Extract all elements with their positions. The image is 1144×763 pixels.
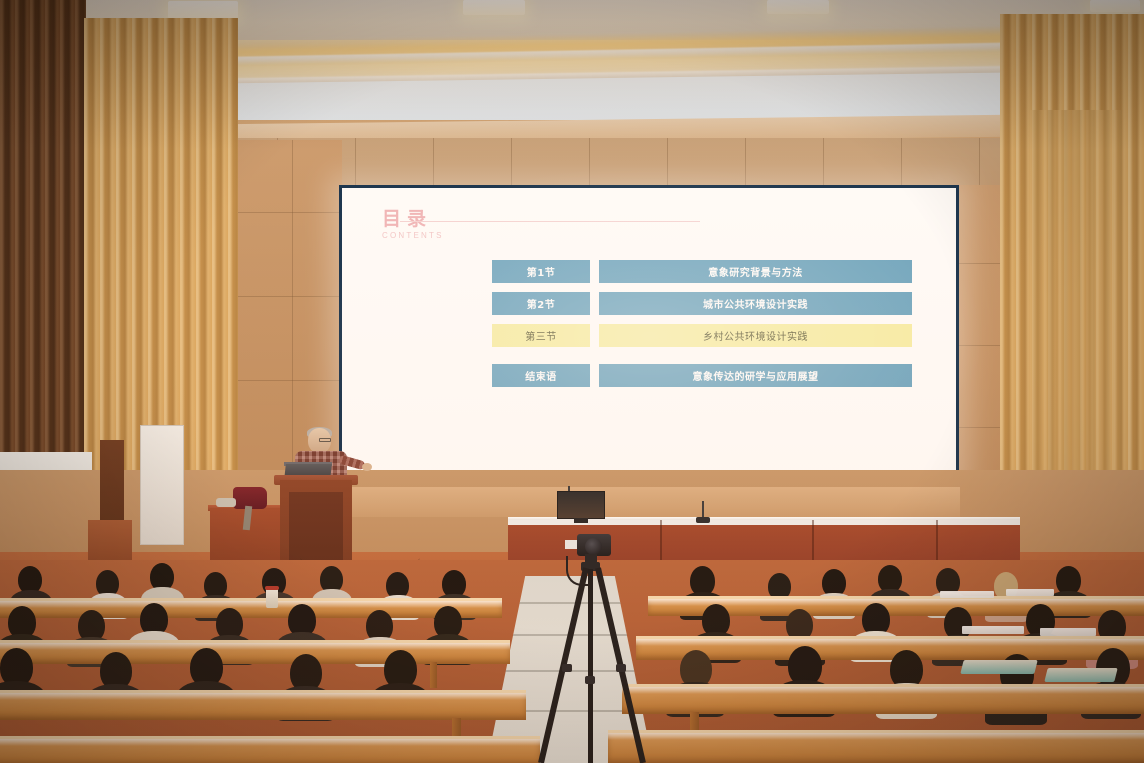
low-wooden-cabinet <box>88 520 132 564</box>
toc-row[interactable]: 第1节 意象研究背景与方法 <box>492 260 912 283</box>
audience-desk-row-front <box>0 736 540 763</box>
left-wall-panels <box>238 140 342 470</box>
audience-desk-row <box>0 598 502 618</box>
desk-top-highlight <box>0 601 502 608</box>
presenter-hand <box>362 463 372 471</box>
curtain-left-dark <box>0 0 86 520</box>
audience-desk-row-front <box>608 730 1144 763</box>
toc-row-title: 意象传达的研学与应用展望 <box>599 364 912 387</box>
ceiling-panel-light <box>1090 0 1140 12</box>
slide-title-chinese: 目录 <box>382 210 444 229</box>
cup-on-desk <box>266 588 278 608</box>
ceiling-panel-light <box>168 1 238 19</box>
toc-row-title: 城市公共环境设计实践 <box>599 292 912 315</box>
slide-title-english: CONTENTS <box>382 231 444 240</box>
stage-wainscot-band <box>340 487 960 517</box>
fire-extinguisher-cabinet <box>100 440 124 530</box>
toc-row-title: 乡村公共环境设计实践 <box>599 324 912 347</box>
tripod-center-column <box>588 569 593 763</box>
desk-monitor <box>557 491 605 519</box>
projection-screen[interactable]: 目录 CONTENTS 第1节 意象研究背景与方法 第2节 城市公共环境设计实践… <box>339 185 959 485</box>
tripod-leg-lock <box>562 664 572 672</box>
monitor-stand <box>574 518 588 523</box>
lecture-hall-photo: 目录 CONTENTS 第1节 意象研究背景与方法 第2节 城市公共环境设计实践… <box>0 0 1144 763</box>
paper-on-desk <box>940 591 994 598</box>
slide-title-group: 目录 CONTENTS <box>382 210 444 240</box>
toc-row[interactable]: 第2节 城市公共环境设计实践 <box>492 292 912 315</box>
slide-surface: 目录 CONTENTS 第1节 意象研究背景与方法 第2节 城市公共环境设计实践… <box>342 188 956 482</box>
paper-on-desk <box>1040 628 1096 636</box>
toc-row-title: 意象研究背景与方法 <box>599 260 912 283</box>
ceiling-panel-light <box>767 0 829 14</box>
presenter-glasses <box>319 438 331 442</box>
toc-row-number: 第2节 <box>492 292 590 315</box>
desk-top-highlight <box>0 693 526 700</box>
ceiling-panel-light <box>463 0 525 15</box>
microphone-base <box>696 517 710 523</box>
tripod-leg-lock <box>616 664 626 672</box>
notebook-stack <box>1044 668 1117 682</box>
paper-on-desk <box>1006 589 1054 596</box>
audience-desk-row <box>622 684 1144 714</box>
desk-top-highlight <box>608 733 1144 740</box>
desk-leg <box>430 662 437 688</box>
toc-row[interactable]: 结束语 意象传达的研学与应用展望 <box>492 364 912 387</box>
audience-desk-row <box>0 690 526 720</box>
cup-lid <box>265 586 279 590</box>
desk-top-highlight <box>0 643 510 650</box>
toc-row-number: 结束语 <box>492 364 590 387</box>
audience-desk-row <box>0 640 510 664</box>
toc-row-number: 第1节 <box>492 260 590 283</box>
desk-top-highlight <box>0 739 540 746</box>
wall-panel-seam <box>292 140 293 470</box>
wall-panel-seam <box>238 296 342 297</box>
toc-row-number: 第三节 <box>492 324 590 347</box>
items-on-side-table <box>216 498 236 507</box>
toc-row-highlighted[interactable]: 第三节 乡村公共环境设计实践 <box>492 324 912 347</box>
paper-on-desk <box>962 626 1024 634</box>
notebook-stack <box>960 660 1037 674</box>
slide-title-underline <box>400 221 700 222</box>
desk-top-highlight <box>636 639 1144 646</box>
tripod-center-lock <box>585 676 595 684</box>
camera-lens <box>585 538 602 555</box>
audience-desk-row <box>636 636 1144 660</box>
slide-table-of-contents: 第1节 意象研究背景与方法 第2节 城市公共环境设计实践 第三节 乡村公共环境设… <box>492 260 912 396</box>
wall-panel-seam <box>238 212 342 213</box>
floor-standing-ac-unit <box>140 425 184 545</box>
wall-panel-seam <box>238 380 342 381</box>
desk-top-highlight <box>622 687 1144 694</box>
